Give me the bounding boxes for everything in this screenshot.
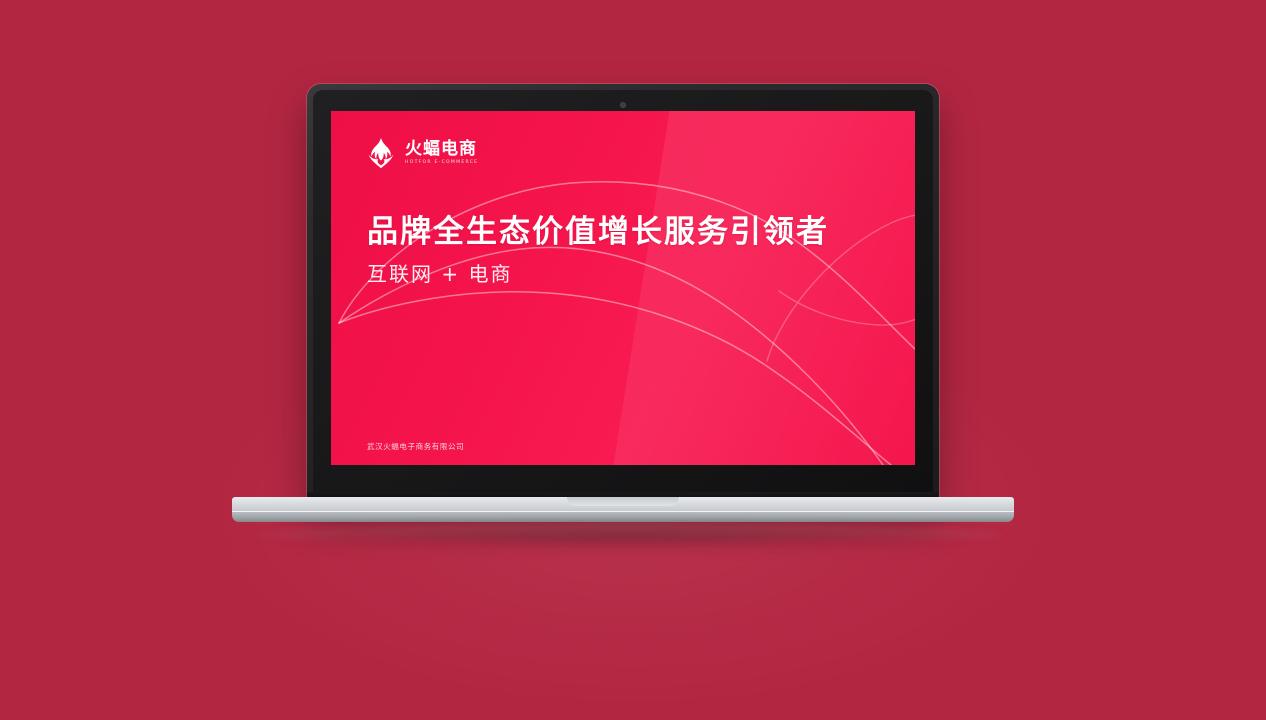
brand-logo[interactable]: 火蝠电商 HOTFOR E-COMMERCE bbox=[366, 137, 478, 169]
laptop-base bbox=[232, 497, 1014, 523]
brand-name-en: HOTFOR E-COMMERCE bbox=[405, 161, 478, 166]
laptop-drop-shadow bbox=[250, 521, 1010, 547]
laptop-mockup-scene: 火蝠电商 HOTFOR E-COMMERCE 品牌全生态价值增长服务引领者 互联… bbox=[0, 0, 1266, 627]
laptop-base-thumb-notch bbox=[567, 497, 679, 506]
laptop-base-front-edge bbox=[232, 512, 1014, 522]
webcam-icon bbox=[620, 102, 626, 108]
slide-title: 品牌全生态价值增长服务引领者 bbox=[367, 206, 829, 251]
laptop-base-top bbox=[232, 497, 1014, 512]
laptop-floor-reflection bbox=[255, 524, 1005, 546]
brand-logo-text: 火蝠电商 HOTFOR E-COMMERCE bbox=[405, 141, 478, 165]
flame-emblem-icon bbox=[366, 137, 396, 169]
slide-subtitle: 互联网 + 电商 bbox=[367, 258, 512, 287]
slide-footer-company: 武汉火蝠电子商务有限公司 bbox=[367, 441, 464, 452]
laptop-screen[interactable]: 火蝠电商 HOTFOR E-COMMERCE 品牌全生态价值增长服务引领者 互联… bbox=[331, 111, 915, 465]
brand-name-cn: 火蝠电商 bbox=[405, 141, 478, 159]
